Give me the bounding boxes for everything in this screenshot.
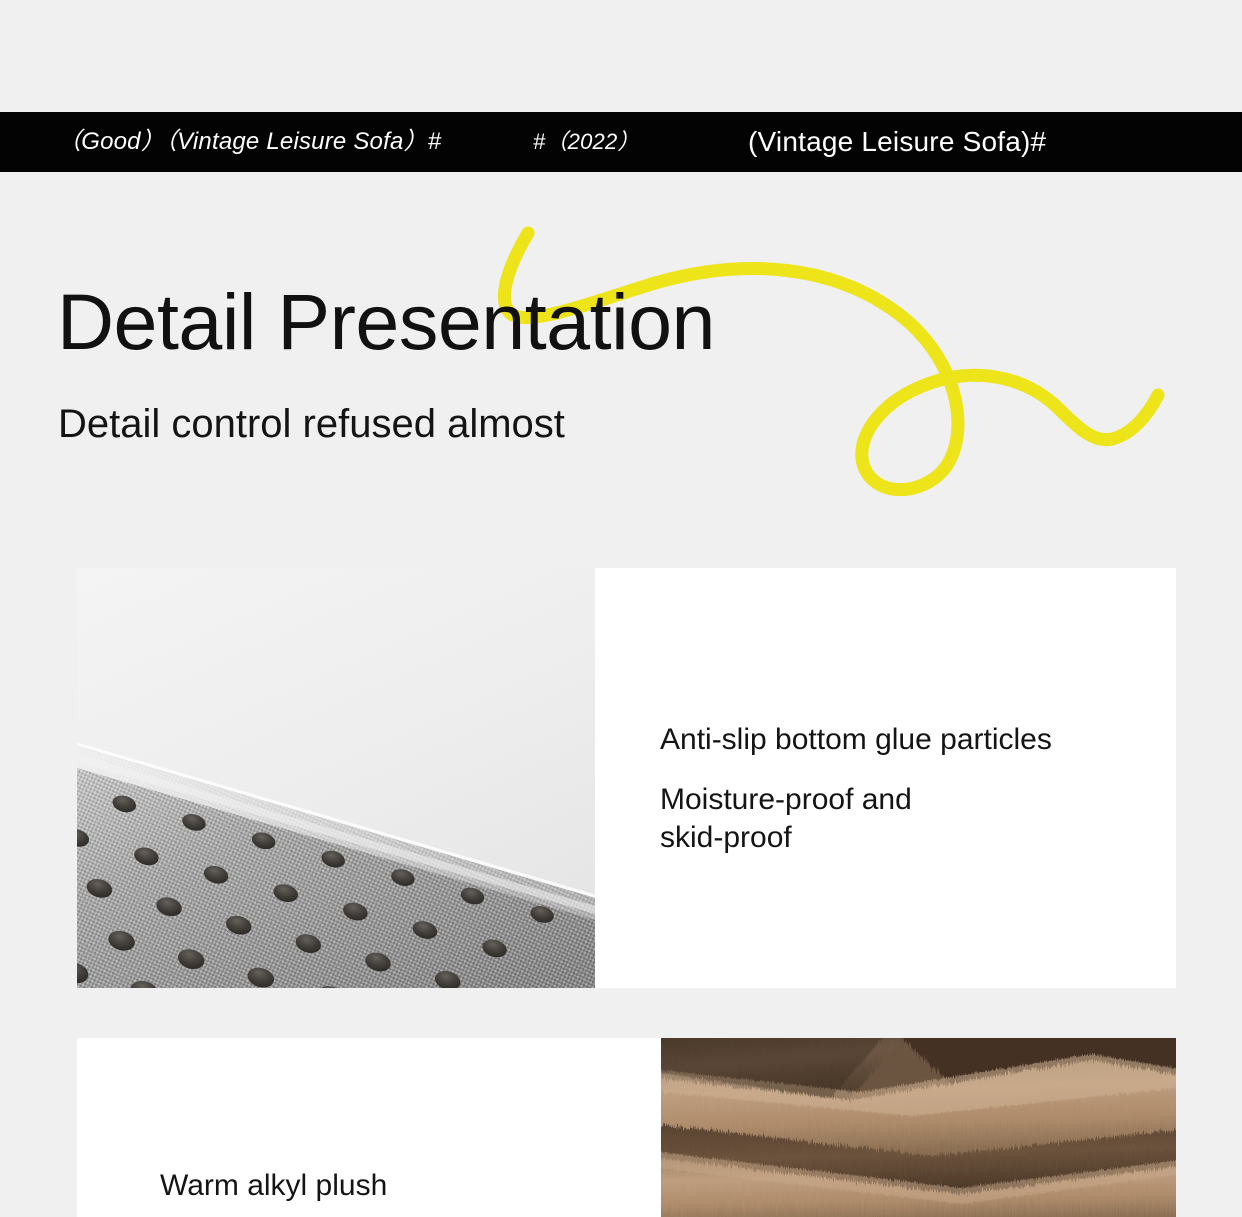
warm-plush-photo	[661, 1038, 1176, 1217]
banner-segment-year: #（2022）	[533, 131, 640, 153]
feature-card-plush: Warm alkyl plush	[77, 1038, 1176, 1217]
banner-segment-product-name: (Vintage Leisure Sofa)#	[748, 128, 1046, 156]
feature-card-anti-slip: Anti-slip bottom glue particles Moisture…	[77, 568, 1176, 988]
banner-segment-product-good: （Good）（Vintage Leisure Sofa）#	[57, 130, 441, 154]
feature-text-anti-slip: Anti-slip bottom glue particles Moisture…	[660, 721, 1170, 856]
feature-line-warm-plush: Warm alkyl plush	[160, 1169, 387, 1203]
yellow-squiggle-icon	[480, 215, 1180, 505]
feature-line-anti-slip-particles: Anti-slip bottom glue particles	[660, 721, 1170, 759]
top-banner: （Good）（Vintage Leisure Sofa）# #（2022） (V…	[0, 112, 1242, 172]
feature-line-moisture-proof: Moisture-proof and skid-proof	[660, 781, 1170, 857]
anti-slip-bottom-photo	[77, 568, 595, 988]
